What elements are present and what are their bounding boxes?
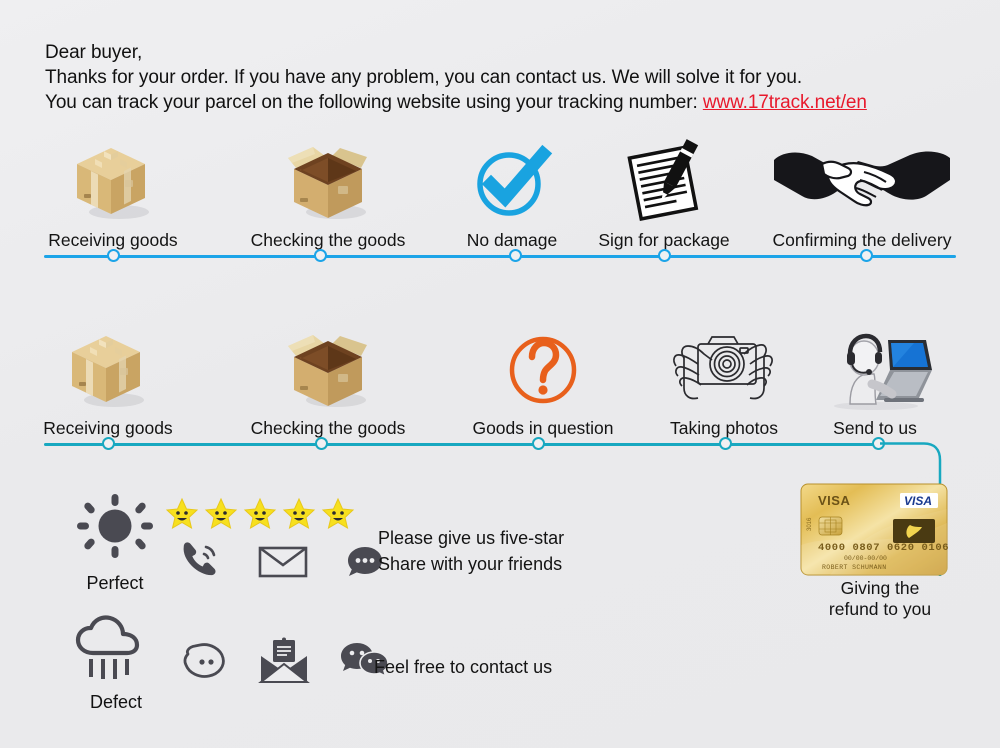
- open-mail-icon[interactable]: [258, 638, 310, 689]
- step-label: Send to us: [808, 418, 942, 438]
- grade-label: Defect: [70, 692, 162, 713]
- message-line-1: Please give us five-star: [378, 525, 564, 551]
- greeting-line: Dear buyer,: [45, 40, 945, 65]
- timeline-dot-1: [102, 437, 115, 450]
- grade-label: Perfect: [68, 573, 162, 594]
- open-box-icon: [248, 328, 408, 410]
- thanks-line: Thanks for your order. If you have any p…: [45, 65, 945, 90]
- card-dates: 00/00-00/00: [844, 555, 887, 562]
- step-label: Goods in question: [460, 418, 626, 438]
- timeline-dot-3: [532, 437, 545, 450]
- closed-box-icon: [43, 140, 183, 222]
- timeline-dot-5: [860, 249, 873, 262]
- step-checking-goods-top: Checking the goods: [248, 140, 408, 250]
- refund-timeline-bottom: [44, 436, 882, 452]
- smiling-star-icon: [243, 497, 277, 536]
- smiling-star-icon: [165, 497, 199, 536]
- timeline-dot-4: [658, 249, 671, 262]
- smiley-face-icon[interactable]: [182, 640, 230, 687]
- step-receiving-goods-bottom: Receiving goods: [38, 328, 178, 438]
- tracking-line-prefix: You can track your parcel on the followi…: [45, 92, 703, 113]
- check-circle-icon: [442, 140, 582, 222]
- smiling-star-icon: [321, 497, 355, 536]
- support-agent-laptop-icon: [808, 328, 942, 410]
- step-goods-in-question: Goods in question: [460, 328, 626, 438]
- timeline-dot-4: [719, 437, 732, 450]
- smiling-star-icon: [282, 497, 316, 536]
- step-no-damage-top: No damage: [442, 140, 582, 250]
- visa-logo: VISA: [904, 494, 932, 508]
- card-holder: ROBERT SCHUMANN: [822, 564, 887, 571]
- header-message: Dear buyer, Thanks for your order. If yo…: [45, 40, 945, 115]
- step-receiving-goods-top: Receiving goods: [43, 140, 183, 250]
- step-label: Taking photos: [650, 418, 798, 438]
- step-send-to-us: Send to us: [808, 328, 942, 438]
- perfect-grade-block: Perfect: [68, 492, 162, 594]
- step-label: No damage: [442, 230, 582, 250]
- timeline-line: [44, 255, 956, 258]
- camera-hands-icon: [650, 328, 798, 410]
- closed-box-icon: [38, 328, 178, 410]
- visa-credit-card: VISA VISA 3016 4000 0807 0620 0106 00/00…: [800, 483, 948, 576]
- step-label: Checking the goods: [248, 418, 408, 438]
- defect-grade-block: Defect: [70, 615, 162, 713]
- refund-label: Giving the refund to you: [800, 578, 960, 620]
- contact-us-message: Feel free to contact us: [374, 654, 552, 680]
- envelope-icon[interactable]: [258, 543, 308, 584]
- five-star-rating: [165, 497, 355, 536]
- step-label: Checking the goods: [248, 230, 408, 250]
- phone-ringing-icon[interactable]: [180, 543, 220, 584]
- message-line-2: Share with your friends: [378, 551, 564, 577]
- step-label: Receiving goods: [43, 230, 183, 250]
- defect-contact-icons: [182, 638, 390, 689]
- timeline-dot-1: [107, 249, 120, 262]
- card-brand-text: VISA: [818, 493, 850, 508]
- handshake-icon: [766, 140, 958, 222]
- step-checking-goods-bottom: Checking the goods: [248, 328, 408, 438]
- perfect-contact-icons: [180, 543, 384, 584]
- step-label: Receiving goods: [38, 418, 178, 438]
- step-taking-photos: Taking photos: [650, 328, 798, 438]
- open-box-icon: [248, 140, 408, 222]
- five-star-request-message: Please give us five-star Share with your…: [378, 525, 564, 577]
- refund-label-line-2: refund to you: [800, 599, 960, 620]
- rain-cloud-icon: [70, 615, 162, 688]
- sun-icon: [68, 492, 162, 569]
- step-sign-package-top: Sign for package: [588, 140, 740, 250]
- step-label: Confirming the delivery: [766, 230, 958, 250]
- timeline-dot-2: [314, 249, 327, 262]
- step-label: Sign for package: [588, 230, 740, 250]
- delivery-timeline-top: [44, 248, 956, 264]
- timeline-dot-2: [315, 437, 328, 450]
- sign-document-icon: [588, 140, 740, 222]
- card-number: 4000 0807 0620 0106: [818, 542, 949, 554]
- card-side-text: 3016: [807, 517, 813, 531]
- refund-label-line-1: Giving the: [800, 578, 960, 599]
- tracking-line: You can track your parcel on the followi…: [45, 90, 945, 115]
- timeline-line: [44, 443, 882, 446]
- tracking-website-link[interactable]: www.17track.net/en: [703, 92, 867, 113]
- promotional-instruction-card: Dear buyer, Thanks for your order. If yo…: [0, 0, 1000, 748]
- question-mark-icon: [460, 328, 626, 410]
- timeline-dot-3: [509, 249, 522, 262]
- step-confirming-delivery-top: Confirming the delivery: [766, 140, 958, 250]
- smiling-star-icon: [204, 497, 238, 536]
